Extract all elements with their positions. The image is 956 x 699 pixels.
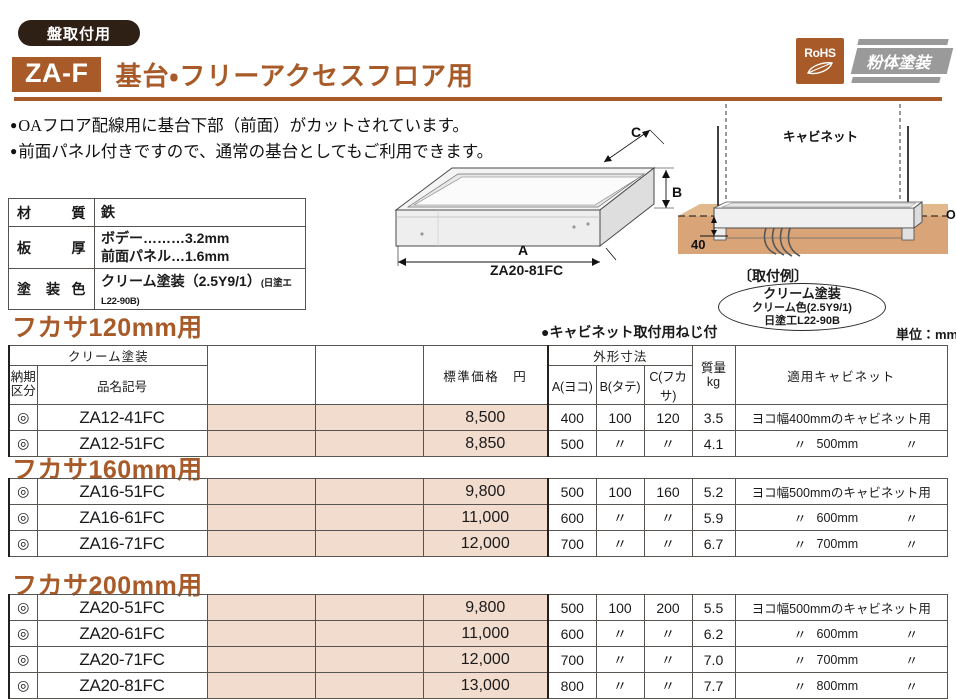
blank-cell-2	[315, 647, 423, 673]
cabinet-ditto-right: 〃	[871, 434, 947, 453]
model-code: ZA16-61FC	[37, 505, 207, 531]
dim-b-cell: 〃	[596, 531, 644, 557]
header-dim-a: A(ヨコ)	[548, 366, 596, 405]
model-code: ZA20-51FC	[37, 595, 207, 621]
screw-note: ●キャビネット取付用ねじ付	[541, 322, 717, 342]
header-blank-1	[207, 346, 315, 405]
cabinet-cell: 〃 600mm 〃	[735, 621, 948, 647]
dim-a-cell: 800	[548, 673, 596, 699]
header-dim-b: B(タテ)	[596, 366, 644, 405]
table-row: 板厚 ボデー………3.2mm 前面パネル…1.6mm	[9, 227, 306, 269]
mass-cell: 3.5	[692, 405, 735, 431]
mass-cell: 6.7	[692, 531, 735, 557]
header-dim-c: C(フカサ)	[644, 366, 692, 405]
blank-cell-1	[207, 431, 315, 457]
model-code: ZA20-71FC	[37, 647, 207, 673]
bullet-dot-icon: ●	[10, 144, 17, 158]
delivery-mark: ◎	[9, 647, 37, 673]
cabinet-cell: 〃 700mm 〃	[735, 647, 948, 673]
blank-cell-1	[207, 621, 315, 647]
cabinet-cell: ヨコ幅500mmのキャビネット用	[735, 479, 948, 505]
category-tag: 盤取付用	[18, 20, 140, 46]
callout-line-1: クリーム塗装	[763, 286, 841, 301]
price-cell: 12,000	[423, 531, 548, 557]
paint-color-callout: クリーム塗装 クリーム色(2.5Y9/1) 日塗工L22-90B	[718, 283, 886, 331]
dim-b-cell: 〃	[596, 647, 644, 673]
dim-a-cell: 600	[548, 505, 596, 531]
dimension-label-a: A	[518, 242, 528, 258]
price-cell: 11,000	[423, 621, 548, 647]
blank-cell-1	[207, 505, 315, 531]
series-code-badge: ZA-F	[12, 57, 101, 91]
delivery-mark: ◎	[9, 405, 37, 431]
price-cell: 12,000	[423, 647, 548, 673]
delivery-mark: ◎	[9, 505, 37, 531]
header-price: 標準価格 円	[423, 346, 548, 405]
price-cell: 8,500	[423, 405, 548, 431]
cabinet-cell: ヨコ幅500mmのキャビネット用	[735, 595, 948, 621]
badge-group: RoHS 粉体塗装	[796, 38, 948, 84]
cabinet-width-value: 600mm	[807, 511, 872, 525]
product-table-120: クリーム塗装 標準価格 円 外形寸法 質量 kg 適用キャビネット 納期 区分 …	[8, 345, 948, 457]
bullet-dot-icon: ●	[10, 118, 17, 132]
cabinet-ditto-left: 〃	[736, 676, 807, 695]
dim-a-cell: 500	[548, 479, 596, 505]
delivery-mark: ◎	[9, 479, 37, 505]
leaf-icon	[807, 62, 833, 75]
header-divider	[14, 97, 942, 101]
cabinet-ditto-left: 〃	[736, 508, 807, 527]
cabinet-ditto-left: 〃	[736, 434, 807, 453]
cabinet-ditto-left: 〃	[736, 650, 807, 669]
banner-bar-bottom	[851, 77, 940, 83]
price-cell: 13,000	[423, 673, 548, 699]
cabinet-width-value: 800mm	[807, 679, 872, 693]
dim-b-cell: 〃	[596, 505, 644, 531]
blank-cell-2	[315, 479, 423, 505]
cabinet-cell: 〃 800mm 〃	[735, 673, 948, 699]
dim-c-cell: 〃	[644, 647, 692, 673]
cabinet-ditto-right: 〃	[871, 508, 947, 527]
table-row: ◎ ZA20-51FC 9,800 500 100 200 5.5 ヨコ幅500…	[9, 595, 948, 621]
dim-b-cell: 〃	[596, 431, 644, 457]
blank-cell-1	[207, 647, 315, 673]
mass-cell: 6.2	[692, 621, 735, 647]
cabinet-cell: 〃 600mm 〃	[735, 505, 948, 531]
callout-line-2: クリーム色(2.5Y9/1)	[752, 302, 852, 315]
table-row: ◎ ZA12-41FC 8,500 400 100 120 3.5 ヨコ幅400…	[9, 405, 948, 431]
cabinet-width-value: 600mm	[807, 627, 872, 641]
spec-value-color: クリーム塗装（2.5Y9/1）(日塗エL22-90B)	[95, 269, 306, 310]
gap-dimension-label: 40	[691, 237, 705, 252]
mass-cell: 5.5	[692, 595, 735, 621]
dim-a-cell: 500	[548, 431, 596, 457]
header-cream-coating: クリーム塗装	[9, 346, 207, 366]
blank-cell-2	[315, 405, 423, 431]
table-row: 材質 鉄	[9, 199, 306, 227]
header-dimensions: 外形寸法	[548, 346, 692, 366]
spec-key-material: 材質	[9, 199, 95, 227]
dim-c-cell: 〃	[644, 531, 692, 557]
delivery-mark: ◎	[9, 595, 37, 621]
section-heading-120: フカサ120mm用	[12, 308, 203, 344]
banner-bar-top	[857, 39, 948, 45]
cabinet-cell: ヨコ幅400mmのキャビネット用	[735, 405, 947, 431]
callout-line-3: 日塗工L22-90B	[764, 315, 840, 328]
delivery-mark: ◎	[9, 531, 37, 557]
dim-c-cell: 〃	[644, 673, 692, 699]
mass-cell: 4.1	[692, 431, 735, 457]
table-row: ◎ ZA16-71FC 12,000 700 〃 〃 6.7 〃 700mm 〃	[9, 531, 948, 557]
spec-value-material: 鉄	[95, 199, 306, 227]
blank-cell-2	[315, 621, 423, 647]
cabinet-width-value: 700mm	[807, 653, 872, 667]
blank-cell-1	[207, 673, 315, 699]
blank-cell-1	[207, 479, 315, 505]
price-cell: 9,800	[423, 479, 548, 505]
table-row: ◎ ZA20-81FC 13,000 800 〃 〃 7.7 〃 800mm 〃	[9, 673, 948, 699]
dim-c-cell: 〃	[644, 505, 692, 531]
dim-a-cell: 600	[548, 621, 596, 647]
iso-drawing-caption: ZA20-81FC	[490, 262, 563, 278]
dim-b-cell: 〃	[596, 621, 644, 647]
cabinet-ditto-left: 〃	[736, 534, 807, 553]
dim-c-cell: 〃	[644, 621, 692, 647]
price-cell: 9,800	[423, 595, 548, 621]
blank-cell-2	[315, 505, 423, 531]
mass-cell: 5.2	[692, 479, 735, 505]
mass-cell: 5.9	[692, 505, 735, 531]
table-row: 塗 装色 クリーム塗装（2.5Y9/1）(日塗エL22-90B)	[9, 269, 306, 310]
dimension-label-c: C	[631, 124, 641, 140]
dim-a-cell: 400	[548, 405, 596, 431]
table-row: ◎ ZA16-51FC 9,800 500 100 160 5.2 ヨコ幅500…	[9, 479, 948, 505]
powder-coating-badge: 粉体塗装	[852, 38, 948, 84]
product-drawings: A B C ZA20-81FC	[378, 104, 956, 294]
model-code: ZA12-41FC	[37, 405, 207, 431]
isometric-product-drawing	[378, 122, 678, 282]
blank-cell-2	[315, 673, 423, 699]
dim-c-cell: 160	[644, 479, 692, 505]
header-applicable-cabinet: 適用キャビネット	[735, 346, 947, 405]
spec-key-thickness: 板厚	[9, 227, 95, 269]
table-row: ◎ ZA16-61FC 11,000 600 〃 〃 5.9 〃 600mm 〃	[9, 505, 948, 531]
model-code: ZA16-51FC	[37, 479, 207, 505]
spec-value-thickness: ボデー………3.2mm 前面パネル…1.6mm	[95, 227, 306, 269]
dim-b-cell: 100	[596, 405, 644, 431]
header-mass: 質量 kg	[692, 346, 735, 405]
oa-floor-label: OAフロア	[946, 204, 956, 223]
header-model-code: 品名記号	[37, 366, 207, 405]
dim-c-cell: 200	[644, 595, 692, 621]
page-title: 基台・フリーアクセスフロア用	[115, 56, 474, 93]
cabinet-ditto-right: 〃	[871, 624, 947, 643]
cabinet-cell: 〃 500mm 〃	[735, 431, 947, 457]
cabinet-ditto-right: 〃	[871, 676, 947, 695]
blank-cell-1	[207, 405, 315, 431]
cabinet-width-value: 700mm	[807, 537, 872, 551]
table-header-row-1: クリーム塗装 標準価格 円 外形寸法 質量 kg 適用キャビネット	[9, 346, 948, 366]
model-code: ZA16-71FC	[37, 531, 207, 557]
blank-cell-1	[207, 595, 315, 621]
powder-coating-label: 粉体塗装	[849, 49, 951, 73]
spec-key-color: 塗 装色	[9, 269, 95, 310]
product-table-200: ◎ ZA20-51FC 9,800 500 100 200 5.5 ヨコ幅500…	[8, 594, 948, 699]
price-cell: 8,850	[423, 431, 548, 457]
delivery-mark: ◎	[9, 673, 37, 699]
table-row: ◎ ZA20-61FC 11,000 600 〃 〃 6.2 〃 600mm 〃	[9, 621, 948, 647]
rohs-badge: RoHS	[796, 38, 844, 84]
cabinet-width-value: 500mm	[807, 437, 872, 451]
table-row: ◎ ZA20-71FC 12,000 700 〃 〃 7.0 〃 700mm 〃	[9, 647, 948, 673]
dim-a-cell: 700	[548, 531, 596, 557]
dim-b-cell: 〃	[596, 673, 644, 699]
blank-cell-2	[315, 531, 423, 557]
dim-a-cell: 700	[548, 647, 596, 673]
blank-cell-2	[315, 431, 423, 457]
mass-cell: 7.7	[692, 673, 735, 699]
product-table-160: ◎ ZA16-51FC 9,800 500 100 160 5.2 ヨコ幅500…	[8, 478, 948, 557]
blank-cell-1	[207, 531, 315, 557]
cabinet-cell: 〃 700mm 〃	[735, 531, 948, 557]
header-delivery-class: 納期 区分	[9, 366, 37, 405]
header-blank-2	[315, 346, 423, 405]
unit-note: 単位：mm	[896, 324, 956, 343]
model-code: ZA20-81FC	[37, 673, 207, 699]
dim-a-cell: 500	[548, 595, 596, 621]
dim-c-cell: 120	[644, 405, 692, 431]
cabinet-ditto-left: 〃	[736, 624, 807, 643]
price-cell: 11,000	[423, 505, 548, 531]
dim-c-cell: 〃	[644, 431, 692, 457]
rohs-label: RoHS	[804, 47, 835, 59]
dim-b-cell: 100	[596, 479, 644, 505]
mass-cell: 7.0	[692, 647, 735, 673]
series-title-row: ZA-F 基台・フリーアクセスフロア用	[12, 56, 474, 93]
cabinet-label: キャビネット	[783, 126, 858, 145]
material-spec-table: 材質 鉄 板厚 ボデー………3.2mm 前面パネル…1.6mm 塗 装色 クリー…	[8, 198, 306, 310]
cabinet-ditto-right: 〃	[871, 650, 947, 669]
delivery-mark: ◎	[9, 621, 37, 647]
blank-cell-2	[315, 595, 423, 621]
dim-b-cell: 100	[596, 595, 644, 621]
model-code: ZA20-61FC	[37, 621, 207, 647]
cabinet-ditto-right: 〃	[871, 534, 947, 553]
